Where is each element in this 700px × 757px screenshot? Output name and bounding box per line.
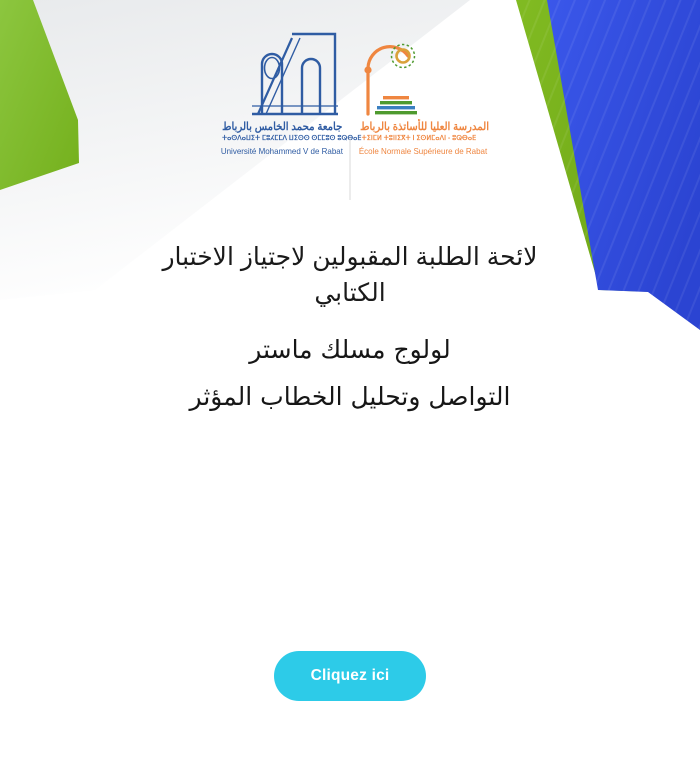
announcement-text: لائحة الطلبة المقبولين لاجتياز الاختبار …: [0, 240, 700, 409]
school-name-french: École Normale Supérieure de Rabat: [359, 146, 479, 157]
university-name-french: Université Mohammed V de Rabat: [221, 146, 341, 157]
school-names: المدرسة العليا للأساتذة بالرباط ⵜⵉⵏⵎⵍ ⵜⵓ…: [355, 120, 483, 157]
school-name-tifinagh: ⵜⵉⵏⵎⵍ ⵜⵓⵏⵏⵉⴳⵜ ⵏ ⵉⵙⵍⵎⴰⴷⵏ - ⵓⵕⴱⴰⴹ: [360, 135, 478, 144]
logo-emblems: [240, 26, 460, 118]
announcement-program-prefix: لولوج مسلك ماستر: [0, 337, 700, 362]
announcement-program-name: التواصل وتحليل الخطاب المؤثر: [0, 384, 700, 409]
school-lamp-emblem: [364, 45, 417, 115]
logo-divider: [350, 138, 351, 200]
cliquez-ici-button[interactable]: Cliquez ici: [274, 651, 426, 701]
university-name-arabic: جامعة محمد الخامس بالرباط: [222, 120, 340, 134]
announcement-page: جامعة محمد الخامس بالرباط ⵜⴰⵙⴷⴰⵡⵉⵜ ⵎⵓⵃⵎⵎ…: [0, 0, 700, 757]
announcement-title: لائحة الطلبة المقبولين لاجتياز الاختبار …: [140, 240, 560, 311]
university-name-tifinagh: ⵜⴰⵙⴷⴰⵡⵉⵜ ⵎⵓⵃⵎⵎⴷ ⵡⵉⵙⵙ ⵙⵎⵎⵓⵙ ⵓⵕⴱⴰⴹ: [222, 135, 340, 144]
university-arch-emblem: [252, 34, 338, 114]
institution-logo: جامعة محمد الخامس بالرباط ⵜⴰⵙⴷⴰⵡⵉⵜ ⵎⵓⵃⵎⵎ…: [0, 26, 700, 157]
school-name-arabic: المدرسة العليا للأساتذة بالرباط: [360, 120, 478, 134]
university-names: جامعة محمد الخامس بالرباط ⵜⴰⵙⴷⴰⵡⵉⵜ ⵎⵓⵃⵎⵎ…: [217, 120, 345, 157]
cta-container: Cliquez ici: [0, 651, 700, 701]
